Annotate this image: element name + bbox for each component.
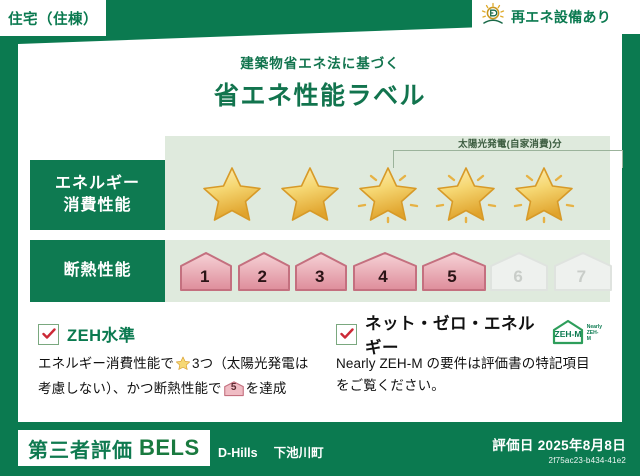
insulation-level-1-number: 1 — [200, 267, 209, 292]
energy-performance-label: エネルギー 消費性能 — [30, 160, 165, 230]
project-info: D-Hills 下池川町 — [218, 442, 324, 461]
zeh-body-part4: を達成 — [246, 381, 287, 396]
criteria-notes: ZEH水準 エネルギー消費性能で3つ（太陽光発電は考慮しない）、かつ断熱性能で5… — [30, 316, 610, 412]
inline-star-icon — [175, 355, 191, 378]
star-4 — [433, 162, 499, 224]
insulation-level-list: 1 2 3 4 5 — [165, 240, 610, 302]
building-type-label: 住宅（住棟） — [8, 8, 98, 29]
sun-icon — [480, 2, 506, 33]
insulation-performance-label: 断熱性能 — [30, 240, 165, 302]
insulation-level-5-number: 5 — [447, 267, 456, 292]
net-zero-title: ネット・ゼロ・エネルギー — [365, 310, 541, 358]
insulation-performance-row: 断熱性能 1 2 3 4 — [30, 240, 610, 302]
svg-text:ZEH-M: ZEH-M — [554, 329, 581, 339]
insulation-level-7: 7 — [553, 250, 610, 292]
insulation-level-7-number: 7 — [577, 267, 586, 292]
insulation-label-text: 断熱性能 — [63, 260, 131, 282]
project-name: D-Hills — [218, 446, 258, 460]
zeh-m-sub-line2: ZEH-M — [587, 330, 599, 342]
star-1 — [199, 162, 265, 224]
footer-bar: 第三者評価 BELS D-Hills 下池川町 評価日 2025年8月8日 2f… — [0, 422, 640, 476]
title-subtitle: 建築物省エネ法に基づく — [0, 52, 640, 72]
zeh-standard-checkbox — [38, 324, 59, 345]
star-5 — [511, 162, 577, 224]
evaluation-id: 2f75ac23-b434-41e2 — [492, 456, 626, 465]
insulation-level-6: 6 — [489, 250, 546, 292]
bels-en-label: BELS — [139, 435, 200, 461]
solar-portion-caption: 太陽光発電(自家消費)分 — [365, 136, 640, 150]
zeh-m-logo-subtext: Nearly ZEH-M — [587, 325, 602, 342]
energy-label-line1: エネルギー — [55, 173, 140, 195]
net-zero-energy-note: ネット・ゼロ・エネルギー ZEH-M Nearly ZEH-M Nearly Z… — [320, 316, 610, 412]
star-3 — [355, 162, 421, 224]
insulation-levels-panel: 1 2 3 4 5 — [165, 240, 610, 302]
building-type-tag: 住宅（住棟） — [0, 0, 106, 36]
insulation-level-1: 1 — [179, 250, 231, 292]
zeh-body-part2: 3つ（太陽光発電 — [192, 356, 295, 371]
title-main: 省エネ性能ラベル — [0, 76, 640, 112]
energy-star-rating — [165, 162, 610, 224]
insulation-level-3-number: 3 — [315, 267, 324, 292]
renewable-equipment-badge: 再エネ設備あり — [472, 0, 640, 34]
net-zero-head: ネット・ゼロ・エネルギー ZEH-M Nearly ZEH-M — [336, 322, 602, 346]
energy-label-root: 住宅（住棟） 再エネ設備あり 建築物省エネ法に基づく — [0, 0, 640, 476]
insulation-level-2-number: 2 — [258, 267, 267, 292]
energy-stars-panel: 太陽光発電(自家消費)分 — [165, 136, 610, 230]
renewable-badge-label: 再エネ設備あり — [511, 7, 611, 27]
insulation-level-4-number: 4 — [378, 267, 387, 292]
net-zero-checkbox — [336, 324, 357, 345]
label-title: 建築物省エネ法に基づく 省エネ性能ラベル — [0, 52, 640, 112]
net-zero-body: Nearly ZEH-M の要件は評価書の特記項目をご覧ください。 — [336, 353, 602, 397]
insulation-level-5: 5 — [421, 250, 484, 292]
insulation-level-6-number: 6 — [513, 267, 522, 292]
zeh-m-house-icon: ZEH-M — [551, 319, 585, 350]
inline-badge-number: 5 — [224, 380, 244, 396]
evaluation-date: 評価日 2025年8月8日 — [492, 434, 626, 454]
zeh-m-logo: ZEH-M Nearly ZEH-M — [551, 319, 602, 350]
evaluation-info: 評価日 2025年8月8日 2f75ac23-b434-41e2 — [492, 434, 626, 465]
bels-jp-label: 第三者評価 — [28, 434, 133, 463]
inline-insulation-badge-icon: 5 — [224, 380, 244, 397]
insulation-level-3: 3 — [294, 250, 346, 292]
energy-performance-row: エネルギー 消費性能 太陽光発電(自家消費)分 — [30, 136, 610, 230]
insulation-level-2: 2 — [237, 250, 289, 292]
zeh-standard-note: ZEH水準 エネルギー消費性能で3つ（太陽光発電は考慮しない）、かつ断熱性能で5… — [30, 316, 320, 412]
energy-label-line2: 消費性能 — [63, 195, 131, 217]
insulation-level-4: 4 — [352, 250, 415, 292]
zeh-body-part1: エネルギー消費性能で — [38, 356, 174, 371]
zeh-standard-title: ZEH水準 — [67, 322, 136, 346]
project-area: 下池川町 — [274, 442, 324, 461]
zeh-standard-body: エネルギー消費性能で3つ（太陽光発電は考慮しない）、かつ断熱性能で5を達成 — [38, 353, 312, 400]
bels-plate: 第三者評価 BELS — [18, 430, 210, 466]
zeh-standard-head: ZEH水準 — [38, 322, 312, 346]
star-2 — [277, 162, 343, 224]
